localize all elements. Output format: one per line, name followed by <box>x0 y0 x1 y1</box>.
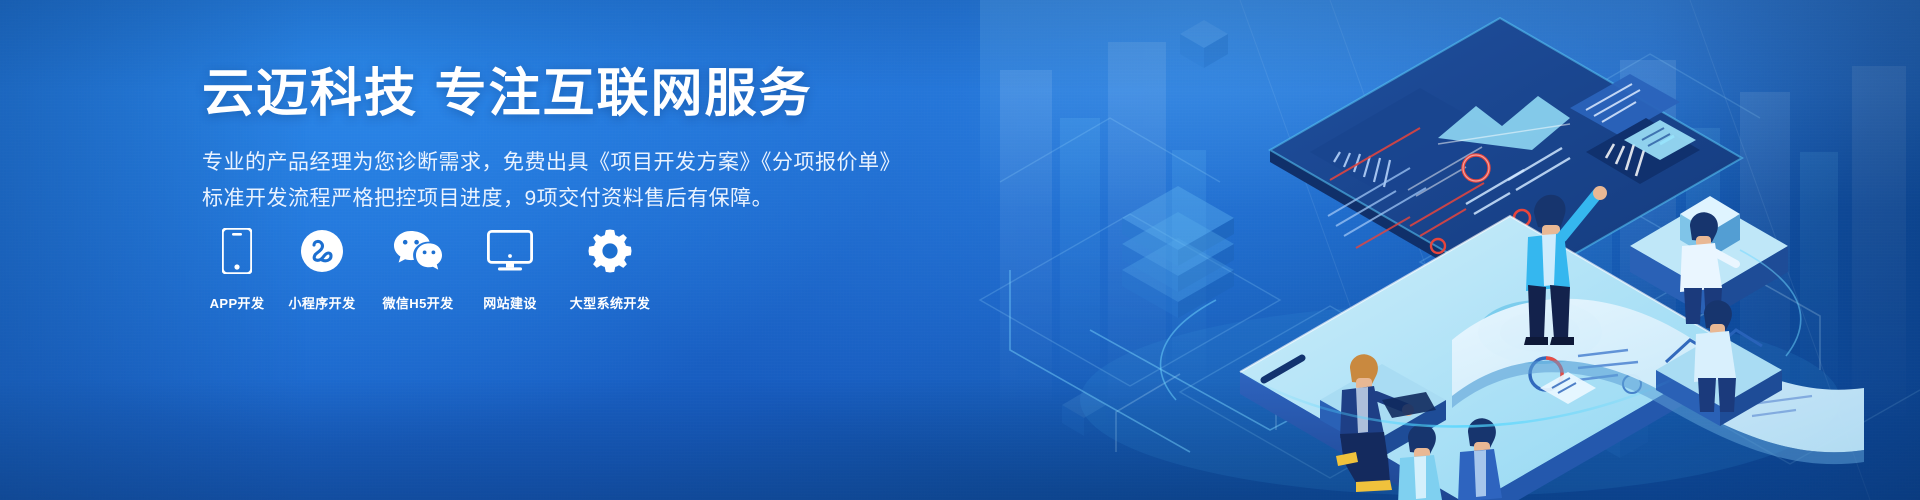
banner-subtitle-line-1: 专业的产品经理为您诊断需求，免费出具《项目开发方案》《分项报价单》 <box>202 145 962 181</box>
service-label: APP开发 <box>210 293 265 312</box>
service-label: 小程序开发 <box>288 293 355 312</box>
service-item-website[interactable]: 网站建设 <box>466 228 554 312</box>
service-item-app[interactable]: APP开发 <box>200 228 274 312</box>
service-item-wechat-h5[interactable]: 微信H5开发 <box>370 228 466 312</box>
gear-icon <box>588 228 632 274</box>
hero-banner: 云迈科技 专注互联网服务 专业的产品经理为您诊断需求，免费出具《项目开发方案》《… <box>0 0 1920 500</box>
service-item-mini-program[interactable]: 小程序开发 <box>274 228 370 312</box>
service-label: 微信H5开发 <box>382 293 453 312</box>
service-label: 大型系统开发 <box>570 293 650 312</box>
banner-copy: 云迈科技 专注互联网服务 专业的产品经理为您诊断需求，免费出具《项目开发方案》《… <box>202 66 962 217</box>
mobile-phone-icon <box>222 228 252 274</box>
service-list: APP开发 小程序开发 微信 <box>200 228 666 312</box>
wechat-icon <box>393 228 443 274</box>
isometric-tech-illustration <box>940 0 1920 500</box>
mini-program-icon <box>300 228 344 274</box>
banner-title: 云迈科技 专注互联网服务 <box>202 66 962 123</box>
service-label: 网站建设 <box>483 293 537 312</box>
monitor-icon <box>487 228 533 274</box>
banner-subtitle-block: 专业的产品经理为您诊断需求，免费出具《项目开发方案》《分项报价单》 标准开发流程… <box>202 145 962 217</box>
service-item-large-system[interactable]: 大型系统开发 <box>554 228 666 312</box>
banner-subtitle-line-2: 标准开发流程严格把控项目进度，9项交付资料售后有保障。 <box>202 181 962 217</box>
